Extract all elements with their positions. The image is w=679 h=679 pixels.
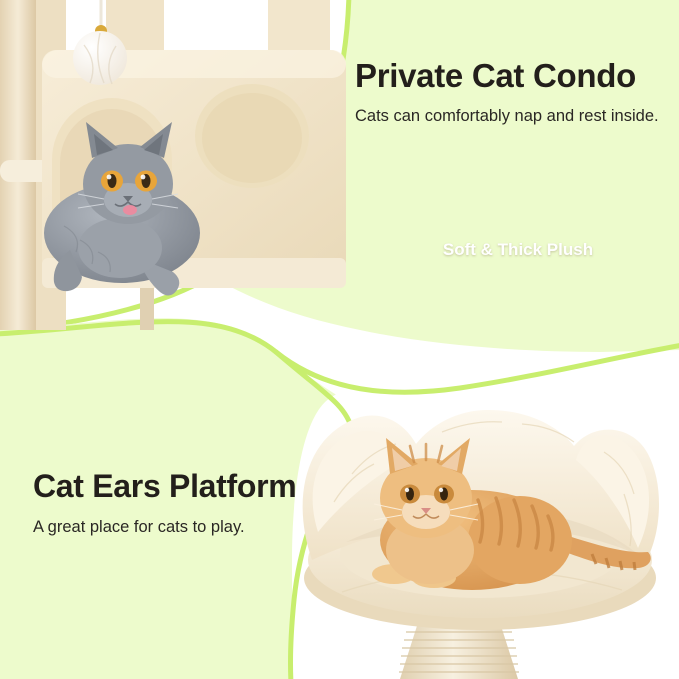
condo-porthole-inner [202, 93, 302, 183]
top-heading: Private Cat Condo [355, 56, 659, 96]
product-feature-infographic: Soft & Thick Plush [0, 0, 679, 679]
tabby-eye-glint-left [405, 488, 409, 492]
grey-cat-tongue [123, 205, 137, 215]
bottom-heading: Cat Ears Platform [33, 466, 296, 506]
top-subtitle: Cats can comfortably nap and rest inside… [355, 105, 659, 127]
bottom-text-block: Cat Ears Platform A great place for cats… [33, 466, 296, 538]
plush-inset-label: Soft & Thick Plush [427, 240, 609, 260]
pompom-ball-icon [73, 31, 127, 85]
bottom-subtitle: A great place for cats to play. [33, 516, 296, 538]
tabby-eye-glint-right [439, 488, 443, 492]
photo-private-cat-condo [0, 0, 360, 330]
top-text-block: Private Cat Condo Cats can comfortably n… [355, 56, 659, 127]
grey-cat-eye-glint-left [107, 175, 112, 180]
photo-cat-ears-platform [282, 382, 679, 679]
grey-cat-eye-glint-right [141, 175, 146, 180]
grey-cat-chest [78, 218, 162, 278]
condo-leg [140, 288, 154, 330]
